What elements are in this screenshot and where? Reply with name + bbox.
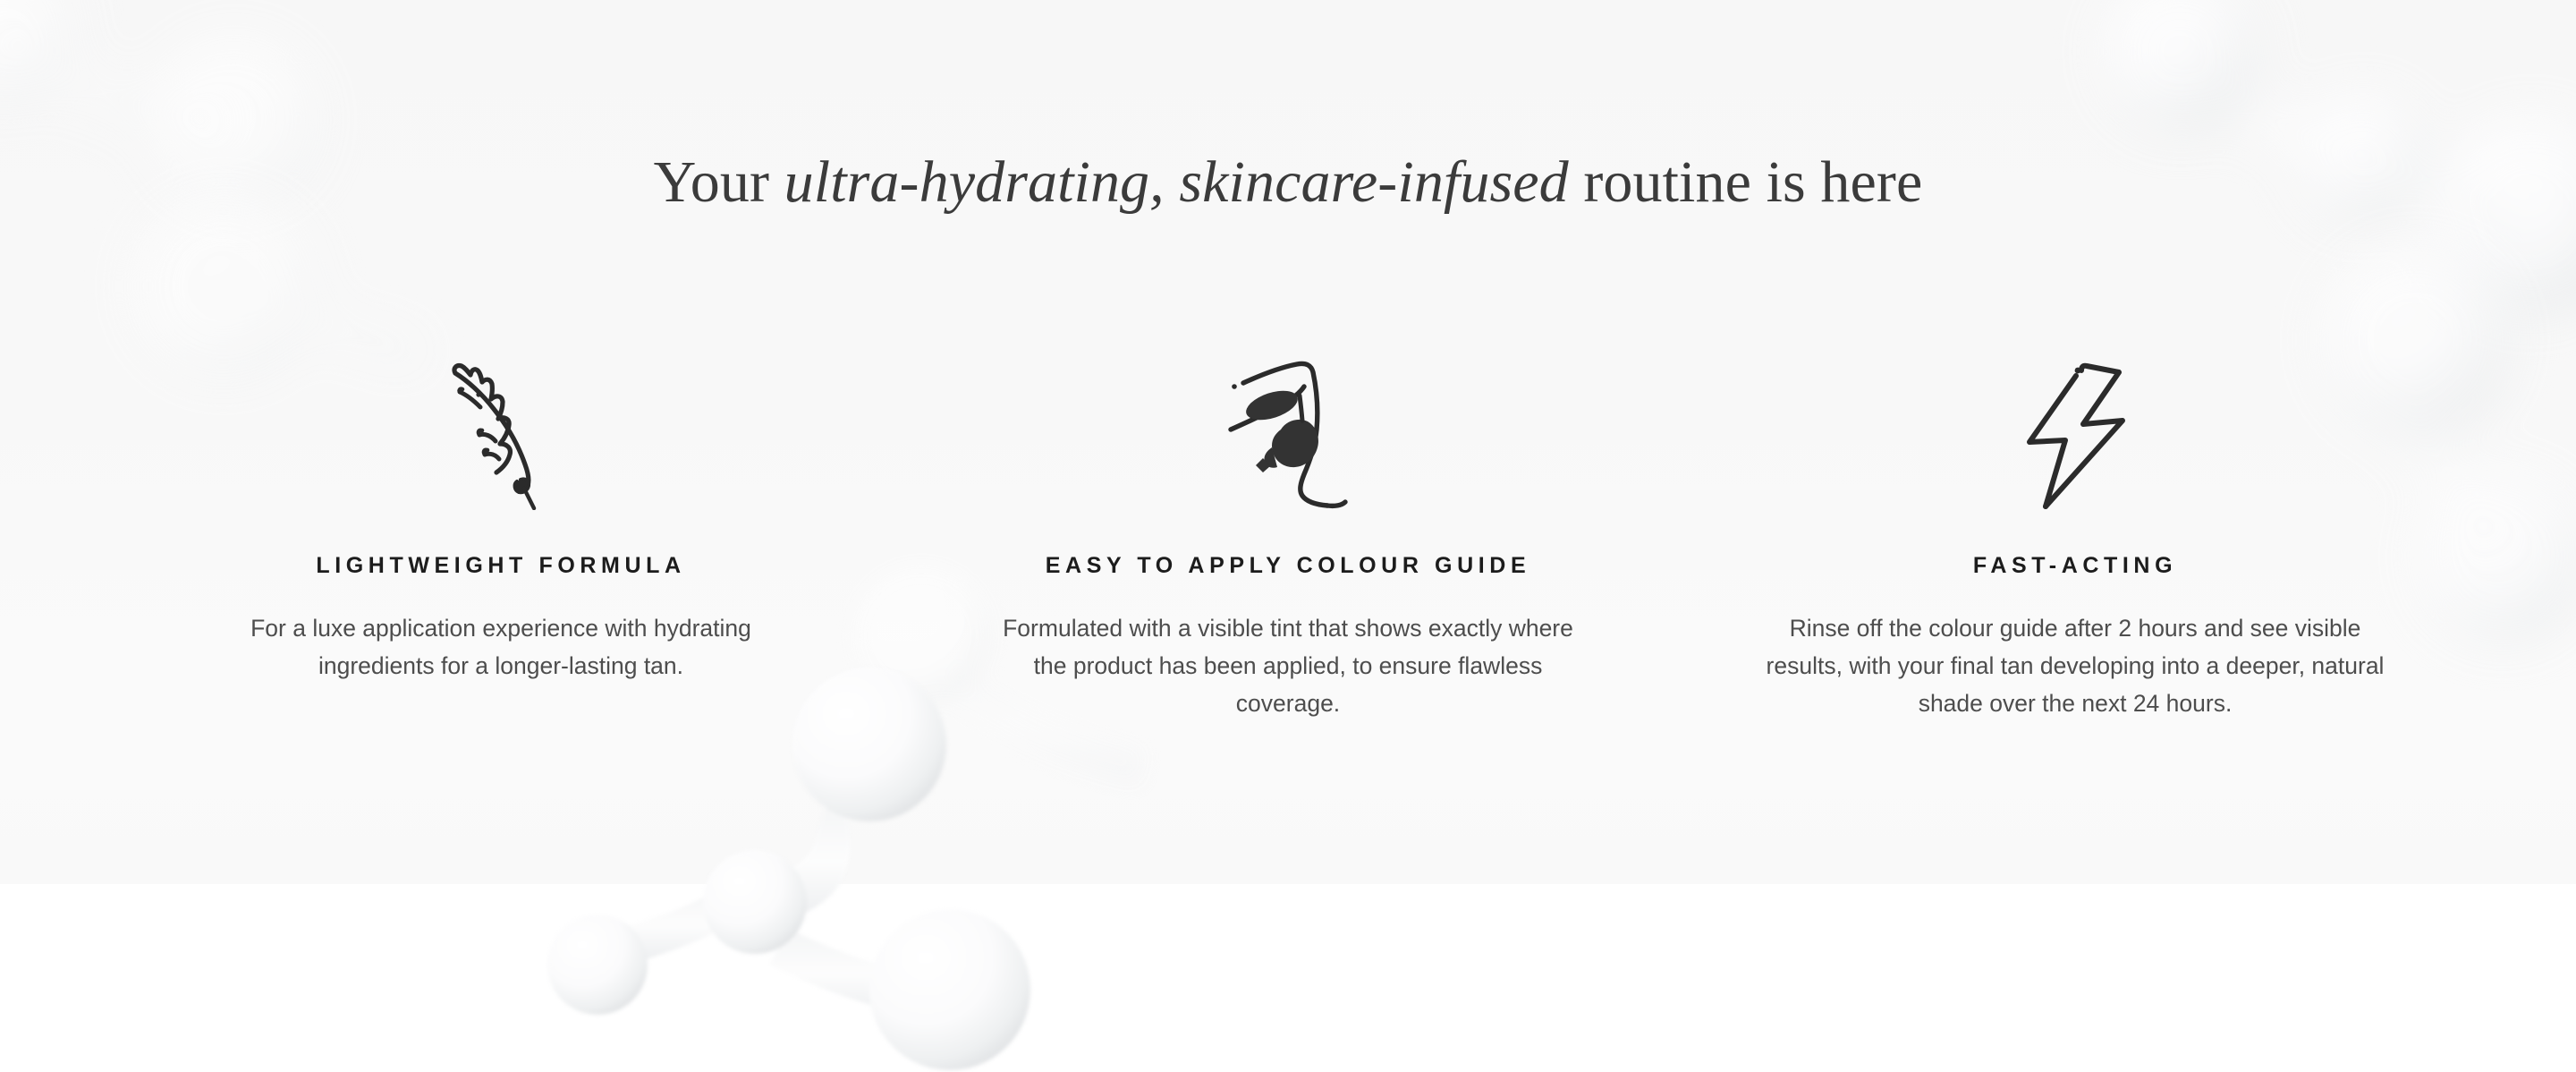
feature-body-fast-acting: Rinse off the colour guide after 2 hours… [1762, 610, 2388, 723]
feature-column-fast-acting: FAST-ACTING Rinse off the colour guide a… [1704, 331, 2446, 723]
heading-text-emphasis: ultra-hydrating, skincare-infused [784, 149, 1569, 215]
feature-title-lightweight-formula: LIGHTWEIGHT FORMULA [316, 553, 685, 579]
feature-columns: LIGHTWEIGHT FORMULA For a luxe applicati… [130, 331, 2446, 723]
section-heading: Your ultra-hydrating, skincare-infused r… [0, 148, 2576, 217]
feature-body-colour-guide: Formulated with a visible tint that show… [1002, 610, 1574, 723]
feature-title-colour-guide: EASY TO APPLY COLOUR GUIDE [1046, 553, 1530, 579]
feature-title-fast-acting: FAST-ACTING [1973, 553, 2177, 579]
feather-icon [442, 331, 560, 510]
feature-column-lightweight-formula: LIGHTWEIGHT FORMULA For a luxe applicati… [130, 331, 872, 685]
heading-text-after: routine is here [1569, 149, 1923, 215]
page-root: Your ultra-hydrating, skincare-infused r… [0, 0, 2576, 1072]
heading-text-before: Your [654, 149, 784, 215]
leg-applicator-icon [1216, 331, 1360, 510]
feature-body-lightweight-formula: For a luxe application experience with h… [224, 610, 778, 685]
lightning-bolt-icon [2019, 331, 2131, 510]
feature-column-colour-guide: EASY TO APPLY COLOUR GUIDE Formulated wi… [917, 331, 1659, 723]
